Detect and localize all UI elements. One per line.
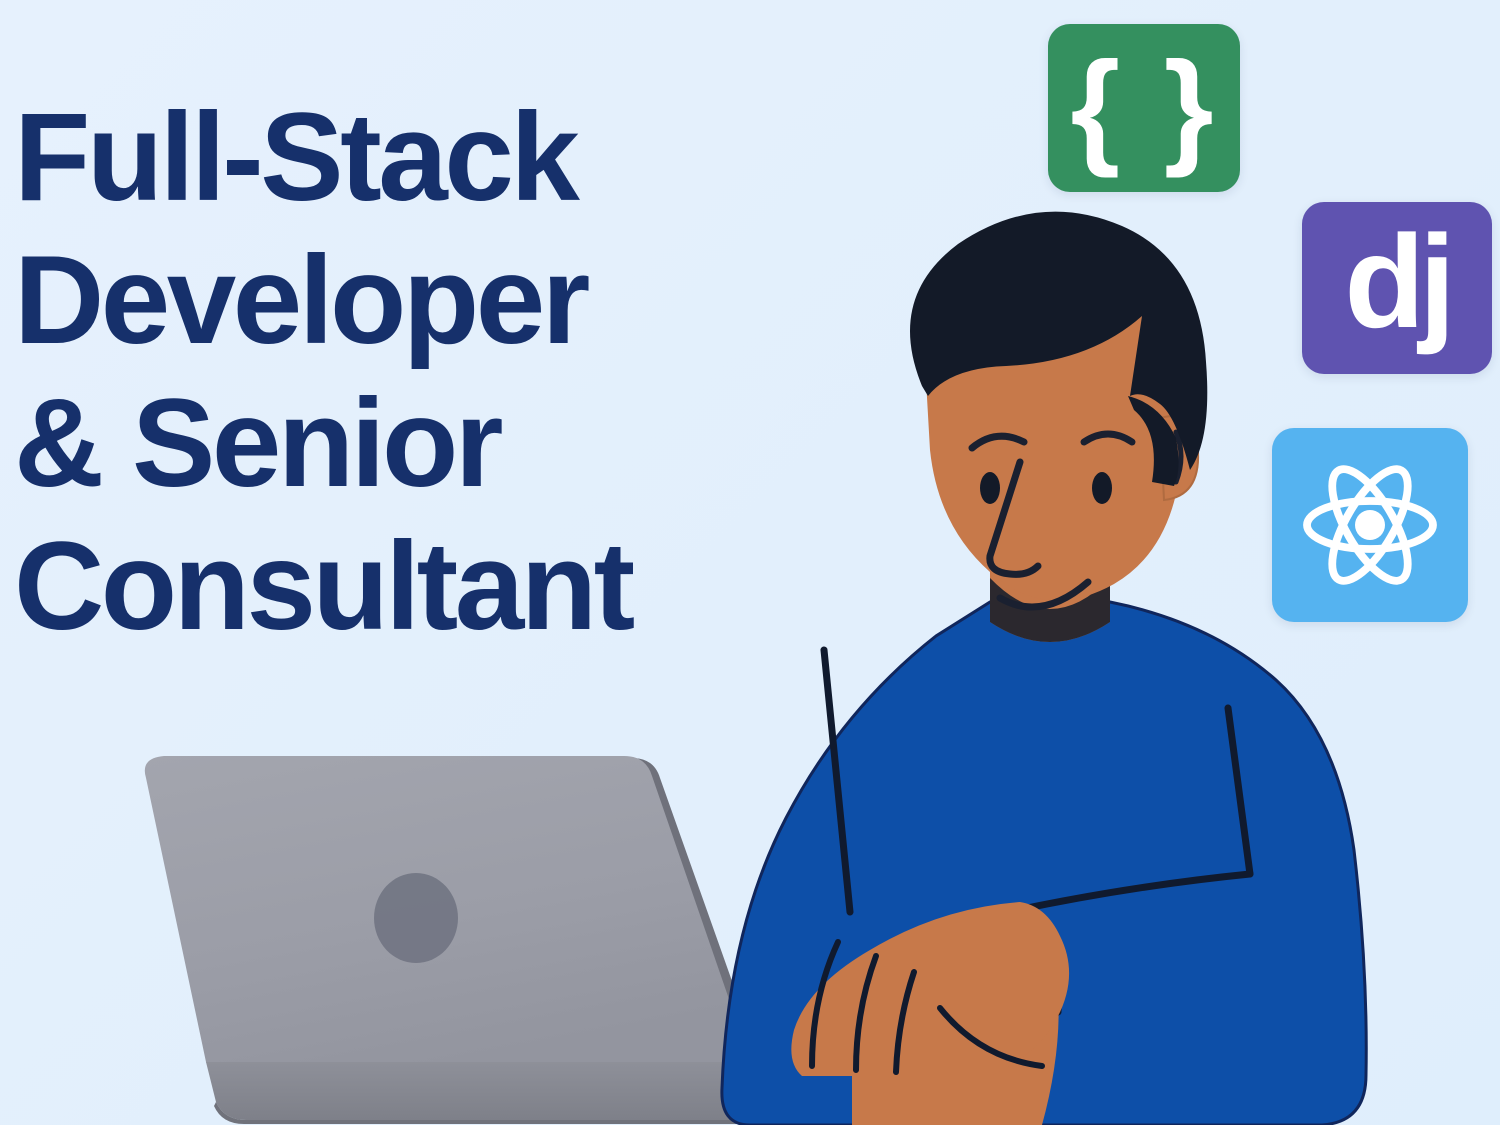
- django-logo-icon: dj: [1344, 216, 1449, 348]
- poster-canvas: Full-Stack Developer & Senior Consultant…: [0, 0, 1500, 1125]
- eye-right: [1092, 472, 1112, 504]
- eye-left: [980, 472, 1000, 504]
- tech-badge-react: [1272, 428, 1468, 622]
- headline-line-2: Developer: [14, 229, 834, 372]
- headline-line-3: & Senior: [14, 372, 834, 515]
- headline-line-4: Consultant: [14, 515, 834, 658]
- curly-braces-icon: { }: [1070, 44, 1217, 172]
- tech-badge-json: { }: [1048, 24, 1240, 192]
- react-atom-icon: [1295, 450, 1445, 600]
- typing-hand: [690, 880, 1190, 1125]
- tech-badge-django: dj: [1302, 202, 1492, 374]
- headline-line-1: Full-Stack: [14, 86, 834, 229]
- hand-shape: [791, 902, 1069, 1076]
- laptop-brand-mark: [374, 873, 458, 963]
- page-title: Full-Stack Developer & Senior Consultant: [14, 86, 834, 658]
